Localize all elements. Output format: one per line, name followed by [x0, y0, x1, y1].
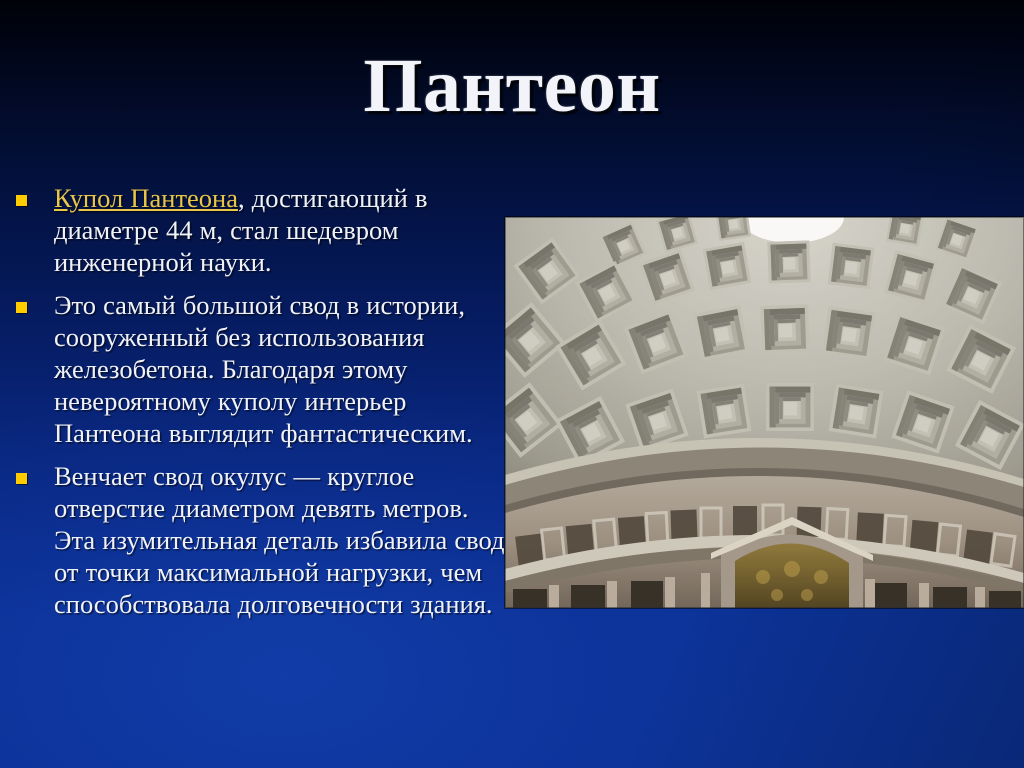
pantheon-dome-interior-photo — [505, 217, 1024, 608]
hyperlink-kupol-panteona[interactable]: Купол Пантеона — [54, 183, 238, 213]
bullet-list: Купол Пантеона, достигающий в диаметре 4… — [8, 182, 508, 631]
square-bullet-icon — [16, 473, 27, 484]
list-item: Это самый большой свод в истории, сооруж… — [8, 289, 508, 449]
list-item-text: Это самый большой свод в истории, сооруж… — [54, 289, 508, 449]
pantheon-dome-illustration — [505, 217, 1024, 608]
list-item: Купол Пантеона, достигающий в диаметре 4… — [8, 182, 508, 278]
square-bullet-icon — [16, 302, 27, 313]
list-item: Венчает свод окулус — круглое отверстие … — [8, 460, 508, 620]
list-item-text: Купол Пантеона, достигающий в диаметре 4… — [54, 182, 508, 278]
slide-title: Пантеон — [0, 48, 1024, 124]
square-bullet-icon — [16, 195, 27, 206]
presentation-slide: Пантеон Купол Пантеона, достигающий в ди… — [0, 0, 1024, 768]
list-item-text: Венчает свод окулус — круглое отверстие … — [54, 460, 508, 620]
